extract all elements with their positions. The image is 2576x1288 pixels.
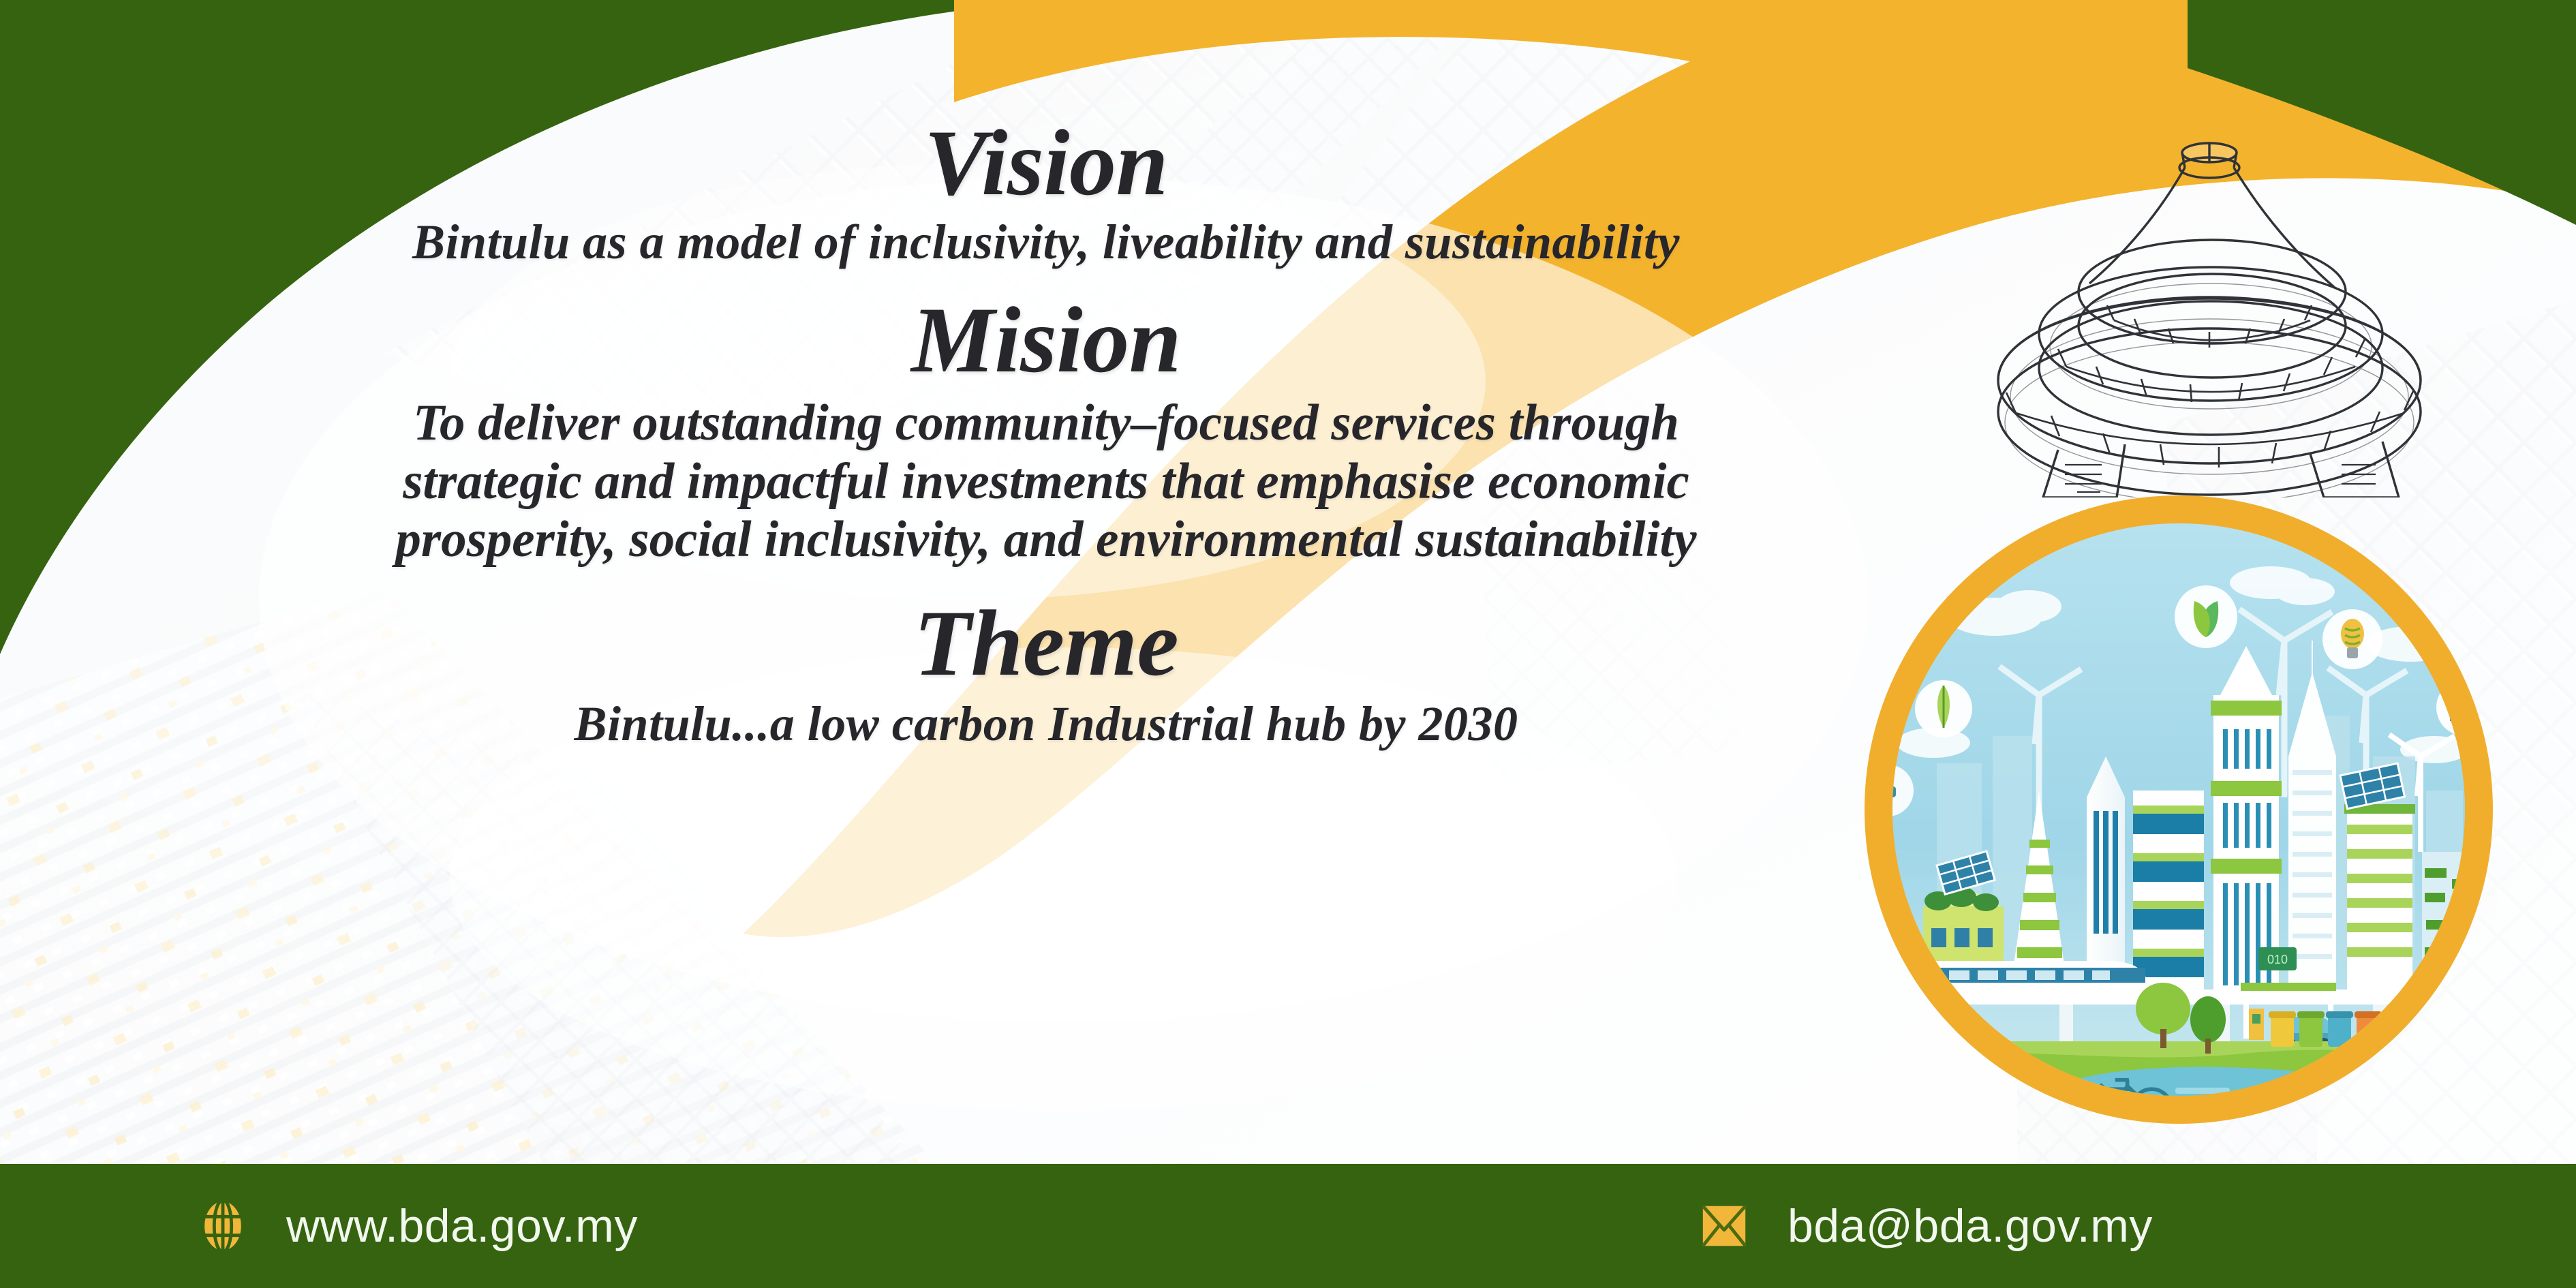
footer-email[interactable]: bda@bda.gov.my — [1698, 1198, 2153, 1254]
website-label: www.bda.gov.my — [286, 1199, 638, 1253]
green-city-illustration: 010 — [1835, 470, 2550, 1165]
mision-line-1: To deliver outstanding community–focused… — [225, 394, 1867, 453]
vision-statement: Bintulu as a model of inclusivity, livea… — [225, 214, 1867, 270]
footer-website[interactable]: www.bda.gov.my — [196, 1198, 638, 1254]
envelope-icon — [1698, 1198, 1751, 1254]
mision-title: Mision — [225, 293, 1867, 387]
theme-title: Theme — [225, 596, 1867, 690]
mision-statement: To deliver outstanding community–focused… — [225, 394, 1867, 569]
globe-icon — [196, 1198, 249, 1254]
theme-statement: Bintulu...a low carbon Industrial hub by… — [225, 696, 1867, 752]
mision-line-3: prosperity, social inclusivity, and envi… — [225, 510, 1867, 569]
vision-title: Vision — [225, 116, 1867, 210]
svg-text:010: 010 — [2267, 953, 2288, 966]
mision-line-2: strategic and impactful investments that… — [225, 453, 1867, 511]
banner-root: 010 — [0, 0, 2576, 1288]
email-label: bda@bda.gov.my — [1788, 1199, 2153, 1253]
dome-building-line-art — [1956, 129, 2542, 497]
footer-bar: www.bda.gov.my bda@bda.gov.my — [0, 1164, 2576, 1288]
